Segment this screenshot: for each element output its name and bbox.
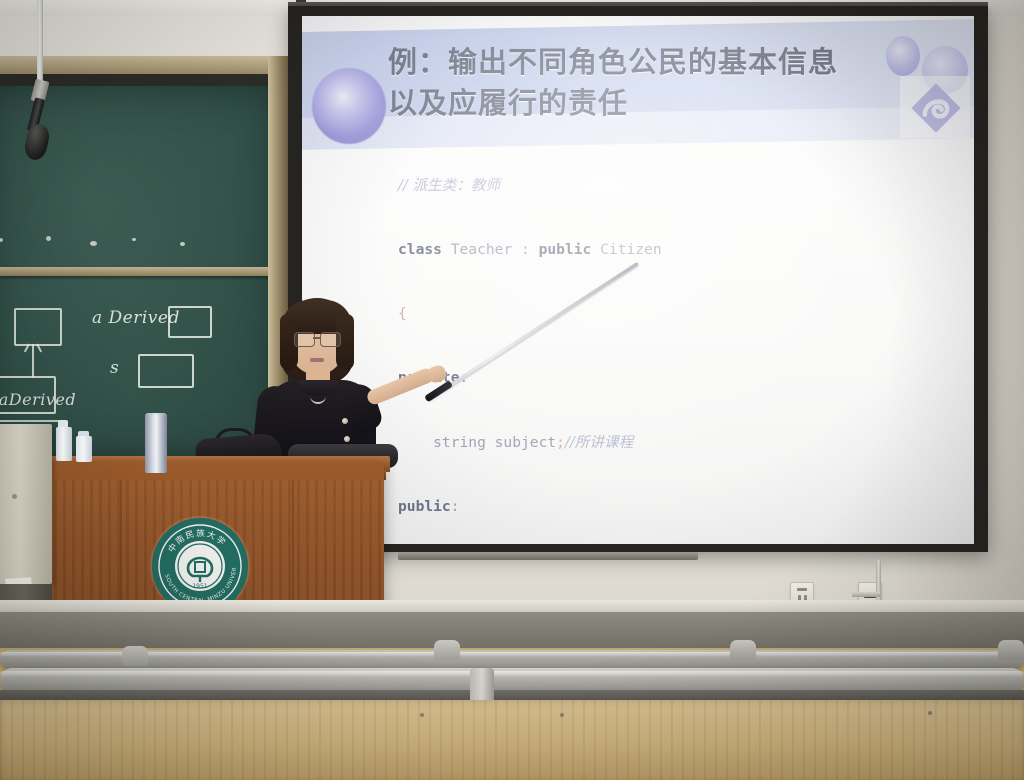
screen-bottom-weight-bar [398, 552, 698, 560]
eyeglasses-right-lens [320, 332, 341, 347]
spiral-diamond-logo-icon [908, 80, 964, 136]
dress-button-1 [342, 418, 348, 424]
side-equipment-cabinet [0, 424, 52, 584]
decorative-orb-large-icon [312, 68, 386, 144]
code-line-5: public: [398, 496, 958, 517]
slide-title: 例：输出不同角色公民的基本信息 以及应履行的责任 [388, 42, 898, 124]
code-line-4: string subject;//所讲课程 [398, 432, 958, 453]
chalk-label-amp-a-derived: &aDerived [0, 390, 76, 409]
rail-clamp-3 [730, 640, 756, 660]
desk-screw-1 [420, 713, 424, 717]
floor [0, 612, 1024, 652]
code-line-1: class Teacher : public Citizen [398, 239, 958, 260]
chalk-box-bottom-right [138, 354, 194, 388]
rail-clamp-4 [998, 640, 1024, 660]
desk-rail-back-highlight [0, 652, 1024, 657]
classroom-photo: &aDerived a Derived s 例：输出 [0, 0, 1024, 780]
dress-button-2 [344, 436, 350, 442]
svg-text:1951: 1951 [192, 583, 207, 590]
code-line-3: private: [398, 367, 958, 388]
small-bottle [76, 436, 92, 462]
chalk-arrow-up [32, 344, 34, 378]
presentation-slide: 例：输出不同角色公民的基本信息 以及应履行的责任 // 派生类：教师 class… [302, 16, 974, 544]
microphone-rod [37, 0, 43, 86]
blackboard-chalk-ledge [0, 267, 278, 276]
slide-code-block: // 派生类：教师 class Teacher : public Citizen… [398, 132, 958, 544]
desk-rail-shadow [0, 690, 1024, 700]
desk-wood-grain [0, 700, 1024, 780]
silver-thermos [145, 415, 167, 473]
desk-screw-2 [560, 713, 564, 717]
mouth [310, 358, 324, 362]
conduit-pipe-elbow [852, 592, 880, 597]
chalk-label-s: s [110, 358, 119, 378]
slide-title-line2: 以及应履行的责任 [388, 83, 898, 124]
rail-clamp-2 [434, 640, 460, 660]
slide-title-line1: 例：输出不同角色公民的基本信息 [388, 42, 898, 83]
hand-sanitizer-bottle [56, 427, 72, 461]
cabinet-knob[interactable] [12, 494, 17, 499]
desk-rail-front-highlight [0, 671, 1024, 677]
desk-screw-3 [928, 711, 932, 715]
code-line-2: { [398, 303, 958, 324]
chalk-box-top-left [14, 308, 62, 346]
eyeglasses-bridge [313, 337, 320, 339]
rail-clamp-1 [122, 646, 148, 666]
chalk-box-top-right [168, 306, 212, 338]
eyeglasses-left-lens [294, 332, 315, 347]
projector-screen: 例：输出不同角色公民的基本信息 以及应履行的责任 // 派生类：教师 class… [302, 16, 974, 544]
code-line-0: // 派生类：教师 [398, 175, 958, 196]
chalk-label-a-derived: a Derived [92, 308, 180, 328]
